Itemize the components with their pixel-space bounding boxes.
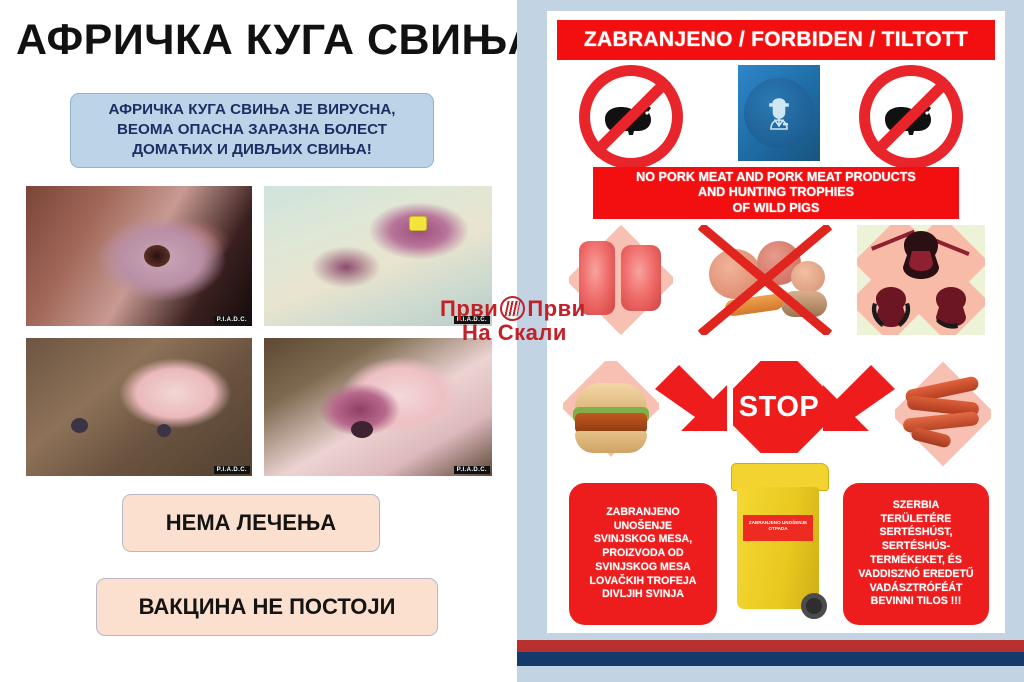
waste-bin-icon: ZABRANJENO UNOŠENJE OTPADA [729,463,829,623]
note-hu-line-7: VADÁSZTRÓFÉÁT [858,582,973,596]
officer-glyph-icon [756,90,802,136]
customs-officer-badge [738,65,820,161]
no-cure-box: НЕМА ЛЕЧЕЊА [122,494,380,552]
photo-credit: P.I.A.D.C. [214,466,250,474]
boar-trophy-icon [857,225,985,335]
note-sr-line-4: PROIZVODA OD [590,547,697,561]
arrow-down-left-icon [819,363,897,453]
customs-officer-icon [744,78,814,148]
disease-info-callout: АФРИЧКА КУГА СВИЊА ЈЕ ВИРУСНА, ВЕОМА ОПА… [70,93,434,168]
note-hu-line-4: SERTÉSHÚS- [858,540,973,554]
photo-credit: P.I.A.D.C. [214,316,250,324]
image-burger [563,361,659,467]
left-content-panel: АФРИЧКА КУГА СВИЊА АФРИЧКА КУГА СВИЊА ЈЕ… [0,0,512,682]
image-hunting-trophies [857,225,985,335]
forbidden-poster: ZABRANJENO / FORBIDEN / TILTOTT [547,11,1005,633]
subheader-line-2: AND HUNTING TROPHIES [698,185,854,200]
no-vaccine-label: ВАКЦИНА НЕ ПОСТОЈИ [139,594,396,620]
slide-root: АФРИЧКА КУГА СВИЊА АФРИЧКА КУГА СВИЊА ЈЕ… [0,0,1024,682]
page-title: АФРИЧКА КУГА СВИЊА [16,18,504,63]
subheader-line-3: OF WILD PIGS [733,201,820,216]
note-sr-line-3: SVINJSKOG MESA, [590,533,697,547]
arrow-down-right-icon [653,363,731,453]
poster-subheader-banner: NO PORK MEAT AND PORK MEAT PRODUCTS AND … [593,167,959,219]
callout-line-2: ВЕОМА ОПАСНА ЗАРАЗНА БОЛЕСТ [77,120,427,140]
note-hu-line-3: SERTÉSHÚST, [858,526,973,540]
photo-pig-leg-hemorrhages: P.I.A.D.C. [26,338,252,476]
photo-pig-snout-lesions: P.I.A.D.C. [26,186,252,326]
note-hu-line-6: VADDISZNÓ EREDETŰ [858,568,973,582]
no-cure-label: НЕМА ЛЕЧЕЊА [166,510,336,536]
note-sr-line-2: UNOŠENJE [590,520,697,534]
note-sr-line-5: SVINJSKOG MESA [590,561,697,575]
note-sr-line-1: ZABRANJENO [590,506,697,520]
note-hungarian: SZERBIA TERÜLETÉRE SERTÉSHÚST, SERTÉSHÚS… [843,483,989,625]
stop-label: STOP [739,391,819,424]
image-raw-pork [569,225,673,335]
poster-backdrop: ZABRANJENO / FORBIDEN / TILTOTT [517,0,1024,682]
poster-header-banner: ZABRANJENO / FORBIDEN / TILTOTT [557,20,995,60]
symptom-photo-grid: P.I.A.D.C. P.I.A.D.C. P.I.A.D.C. P.I.A.D… [26,186,492,476]
serbian-flag-stripe [517,640,1024,666]
note-hu-line-1: SZERBIA [858,499,973,513]
poster-header-text: ZABRANJENO / FORBIDEN / TILTOTT [584,28,968,52]
stop-sign: STOP [733,361,825,453]
no-pig-icon [579,65,683,169]
note-hu-line-8: BEVINNI TILOS !!! [858,595,973,609]
callout-line-3: ДОМАЋИХ И ДИВЉИХ СВИЊА! [77,140,427,160]
callout-line-1: АФРИЧКА КУГА СВИЊА ЈЕ ВИРУСНА, [77,100,427,120]
note-serbian: ZABRANJENO UNOŠENJE SVINJSKOG MESA, PROI… [569,483,717,625]
note-hu-line-5: TERMÉKEKET, ÉS [858,554,973,568]
no-vaccine-box: ВАКЦИНА НЕ ПОСТОЈИ [96,578,438,636]
photo-pig-head-cyanosis: P.I.A.D.C. [264,186,492,326]
note-sr-line-6: LOVAČKIH TROFEJA [590,575,697,589]
note-hu-line-2: TERÜLETÉRE [858,513,973,527]
bin-label: ZABRANJENO UNOŠENJE OTPADA [743,515,813,541]
note-sr-line-7: DIVLJIH SVINJA [590,588,697,602]
photo-credit: P.I.A.D.C. [454,316,490,324]
no-pig-icon [859,65,963,169]
photo-credit: P.I.A.D.C. [454,466,490,474]
subheader-line-1: NO PORK MEAT AND PORK MEAT PRODUCTS [636,170,916,185]
image-sausages [895,361,991,467]
image-pork-products-crossed [695,225,835,335]
photo-pig-skin-hemorrhages: P.I.A.D.C. [264,338,492,476]
